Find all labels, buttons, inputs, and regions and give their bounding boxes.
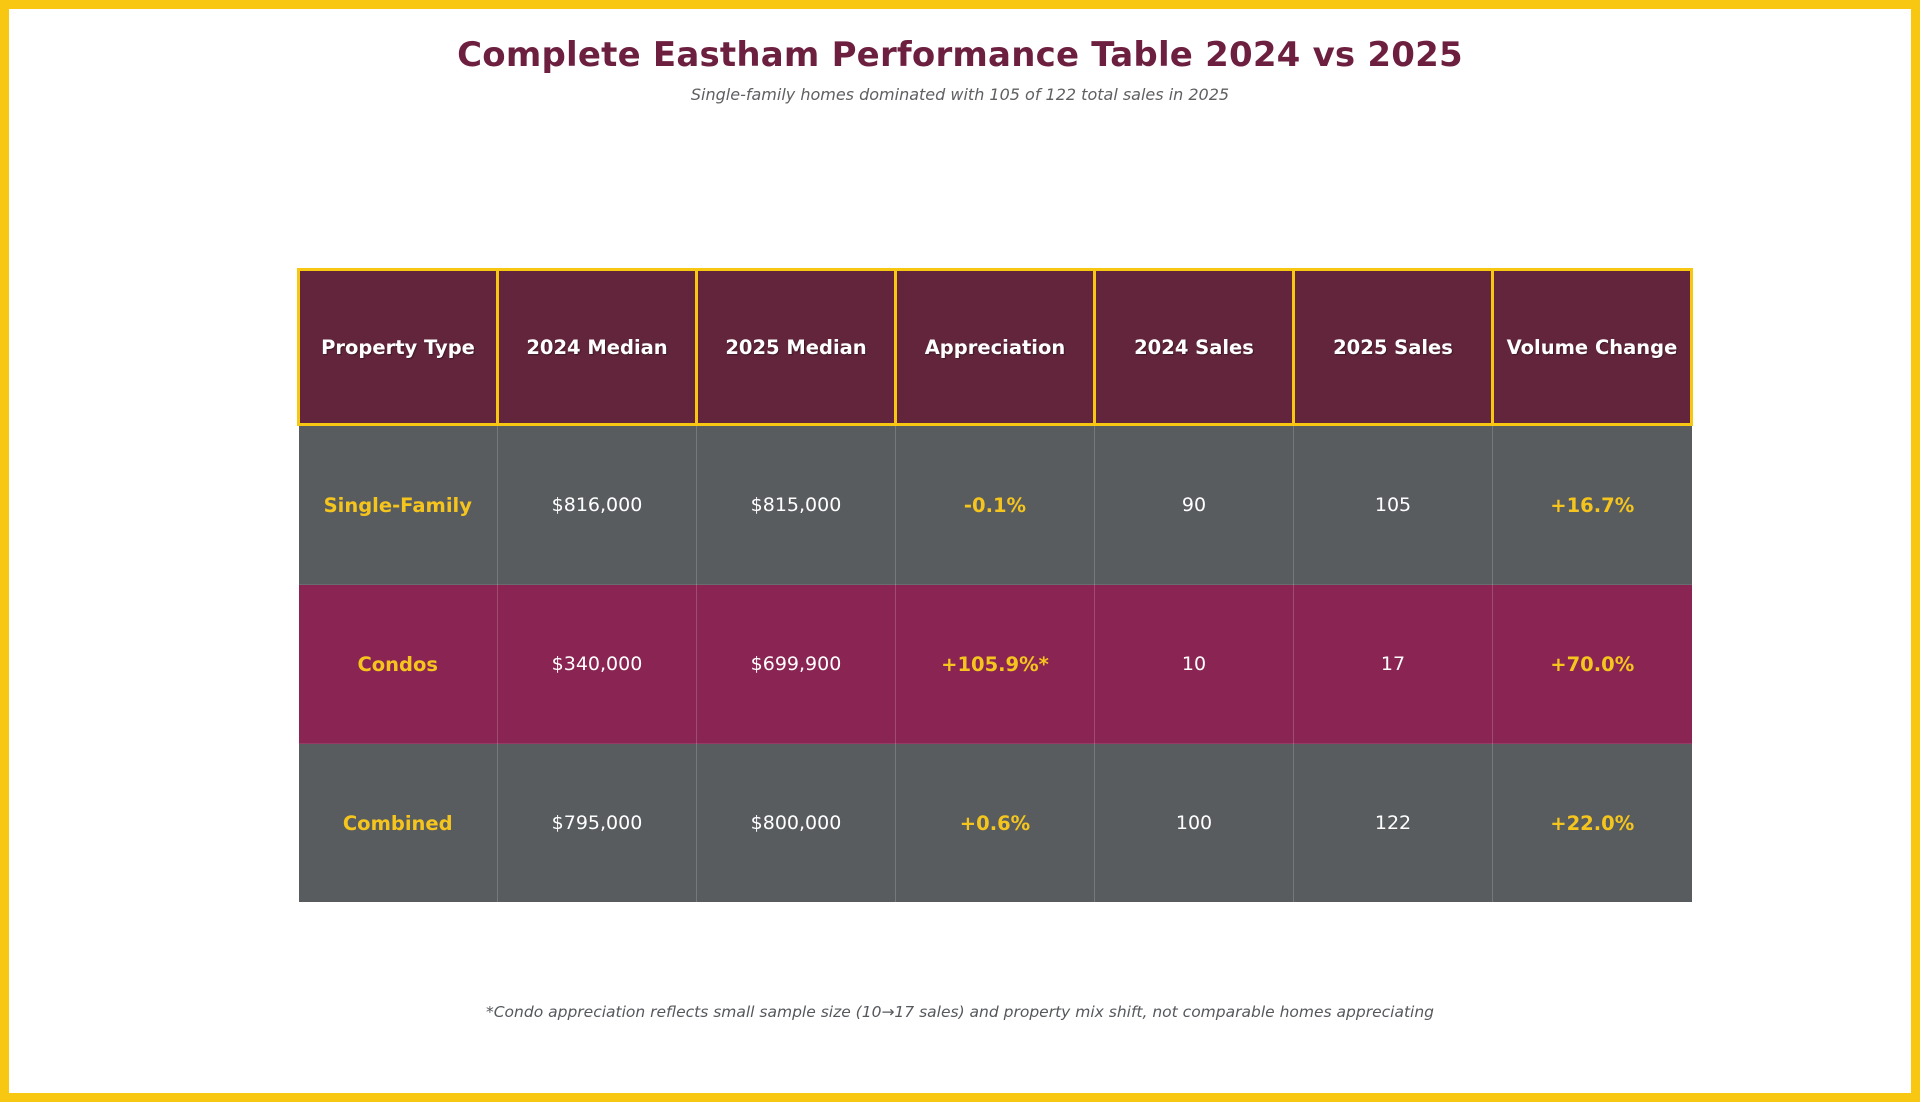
cell-2025-median: $699,900 [697, 585, 896, 744]
cell-2025-sales: 17 [1294, 585, 1493, 744]
poster-frame: Complete Eastham Performance Table 2024 … [0, 0, 1920, 1102]
performance-table: Property Type 2024 Median 2025 Median Ap… [297, 268, 1693, 902]
table-row: Combined $795,000 $800,000 +0.6% 100 122… [299, 744, 1692, 903]
column-header-appreciation: Appreciation [896, 270, 1095, 425]
column-header-2025-median: 2025 Median [697, 270, 896, 425]
cell-2024-sales: 90 [1095, 425, 1294, 585]
poster-canvas: Complete Eastham Performance Table 2024 … [13, 13, 1907, 1089]
cell-2025-median: $800,000 [697, 744, 896, 903]
cell-2025-median: $815,000 [697, 425, 896, 585]
column-header-2024-sales: 2024 Sales [1095, 270, 1294, 425]
table-header-row: Property Type 2024 Median 2025 Median Ap… [299, 270, 1692, 425]
cell-property-type: Single-Family [299, 425, 498, 585]
cell-appreciation: +0.6% [896, 744, 1095, 903]
cell-2024-median: $340,000 [498, 585, 697, 744]
table-body: Single-Family $816,000 $815,000 -0.1% 90… [299, 425, 1692, 903]
column-header-property-type: Property Type [299, 270, 498, 425]
cell-2024-sales: 10 [1095, 585, 1294, 744]
cell-volume-change: +70.0% [1493, 585, 1692, 744]
cell-volume-change: +16.7% [1493, 425, 1692, 585]
cell-2024-sales: 100 [1095, 744, 1294, 903]
cell-2025-sales: 105 [1294, 425, 1493, 585]
cell-2025-sales: 122 [1294, 744, 1493, 903]
cell-property-type: Combined [299, 744, 498, 903]
table-row: Condos $340,000 $699,900 +105.9%* 10 17 … [299, 585, 1692, 744]
cell-2024-median: $795,000 [498, 744, 697, 903]
cell-appreciation: +105.9%* [896, 585, 1095, 744]
page-subtitle: Single-family homes dominated with 105 o… [13, 85, 1907, 104]
cell-volume-change: +22.0% [1493, 744, 1692, 903]
table-footnote: *Condo appreciation reflects small sampl… [13, 1003, 1907, 1021]
column-header-2024-median: 2024 Median [498, 270, 697, 425]
table-header: Property Type 2024 Median 2025 Median Ap… [299, 270, 1692, 425]
page-title: Complete Eastham Performance Table 2024 … [13, 35, 1907, 75]
cell-2024-median: $816,000 [498, 425, 697, 585]
table-row: Single-Family $816,000 $815,000 -0.1% 90… [299, 425, 1692, 585]
cell-appreciation: -0.1% [896, 425, 1095, 585]
cell-property-type: Condos [299, 585, 498, 744]
column-header-2025-sales: 2025 Sales [1294, 270, 1493, 425]
column-header-volume-change: Volume Change [1493, 270, 1692, 425]
performance-table-container: Property Type 2024 Median 2025 Median Ap… [297, 268, 1697, 902]
